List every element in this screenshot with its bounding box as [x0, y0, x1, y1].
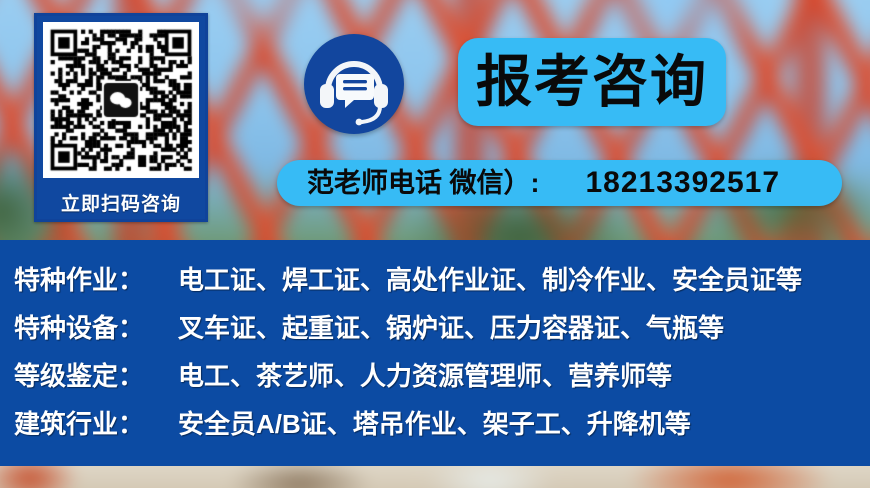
category-items: 电工、茶艺师、人力资源管理师、营养师等: [178, 356, 672, 393]
category-items: 叉车证、起重证、锅炉证、压力容器证、气瓶等: [178, 308, 724, 345]
page-title: 报考咨询: [476, 54, 708, 110]
contact-label: 范老师电话 微信）:: [307, 170, 540, 197]
contact-phone-number[interactable]: 18213392517: [586, 168, 781, 198]
category-label: 等级鉴定：: [14, 356, 164, 393]
category-label: 特种设备：: [14, 308, 164, 345]
category-label: 建筑行业：: [14, 404, 164, 441]
headset-chat-icon: [304, 34, 404, 134]
certificate-categories-panel: 特种作业： 电工证、焊工证、高处作业证、制冷作业、安全员证等 特种设备： 叉车证…: [0, 240, 870, 466]
promo-poster: 立即扫码咨询 报考咨询 范老师电话 微信）: 18213392517: [0, 0, 870, 488]
category-items: 安全员A/B证、塔吊作业、架子工、升降机等: [178, 404, 691, 441]
category-label: 特种作业：: [14, 260, 164, 297]
list-item: 特种作业： 电工证、焊工证、高处作业证、制冷作业、安全员证等: [14, 260, 870, 308]
contact-pill[interactable]: 范老师电话 微信）: 18213392517: [277, 160, 842, 206]
title-pill: 报考咨询: [458, 38, 726, 126]
wechat-qr-code-icon[interactable]: [43, 22, 199, 178]
list-item: 建筑行业： 安全员A/B证、塔吊作业、架子工、升降机等: [14, 404, 870, 452]
certificate-rows: 特种作业： 电工证、焊工证、高处作业证、制冷作业、安全员证等 特种设备： 叉车证…: [0, 240, 870, 452]
qr-code-label: 立即扫码咨询: [37, 195, 205, 214]
list-item: 特种设备： 叉车证、起重证、锅炉证、压力容器证、气瓶等: [14, 308, 870, 356]
category-items: 电工证、焊工证、高处作业证、制冷作业、安全员证等: [178, 260, 802, 297]
qr-code-card[interactable]: 立即扫码咨询: [34, 13, 208, 222]
list-item: 等级鉴定： 电工、茶艺师、人力资源管理师、营养师等: [14, 356, 870, 404]
